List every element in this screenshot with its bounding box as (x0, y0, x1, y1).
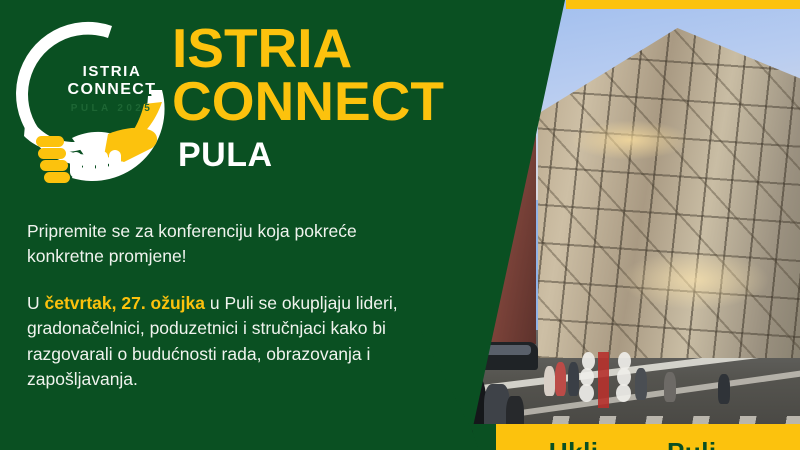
yellow-bottom-banner: Uklj… … Puli… (492, 424, 800, 450)
event-date-highlight: četvrtak, 27. ožujka (45, 293, 206, 313)
photo-interior-glow (570, 120, 690, 160)
photo-balloon (616, 384, 631, 402)
photo-person (635, 368, 647, 400)
bottom-banner-text: Uklj… … Puli… (492, 437, 800, 450)
body-copy: Pripremite se za konferenciju koja pokre… (27, 219, 419, 392)
paragraph-details-prefix: U (27, 293, 45, 313)
poster: Uklj… … Puli… ISTRIA CONNECT (0, 0, 800, 450)
headline-line-3: PULA (178, 138, 444, 172)
photo-person (544, 366, 555, 396)
paragraph-intro: Pripremite se za konferenciju koja pokre… (27, 219, 419, 270)
logo-line-2: CONNECT (52, 82, 172, 98)
headline-line-2: CONNECT (172, 75, 444, 128)
logo-line-1: ISTRIA (58, 64, 166, 79)
photo-red-column (598, 352, 609, 408)
istria-connect-logo: ISTRIA CONNECT PULA 2025 (12, 18, 172, 193)
photo-person (568, 362, 579, 396)
headline: ISTRIA CONNECT PULA (172, 22, 444, 172)
photo-person (664, 372, 676, 402)
yellow-top-accent-bar (566, 0, 800, 9)
photo-person (718, 374, 730, 404)
headline-line-1: ISTRIA (172, 22, 444, 75)
paragraph-details: U četvrtak, 27. ožujka u Puli se okuplja… (27, 291, 419, 393)
photo-balloon (579, 384, 594, 402)
photo-person (555, 362, 566, 396)
logo-line-3: PULA 2025 (52, 104, 172, 114)
photo-interior-glow-lower (620, 250, 770, 310)
